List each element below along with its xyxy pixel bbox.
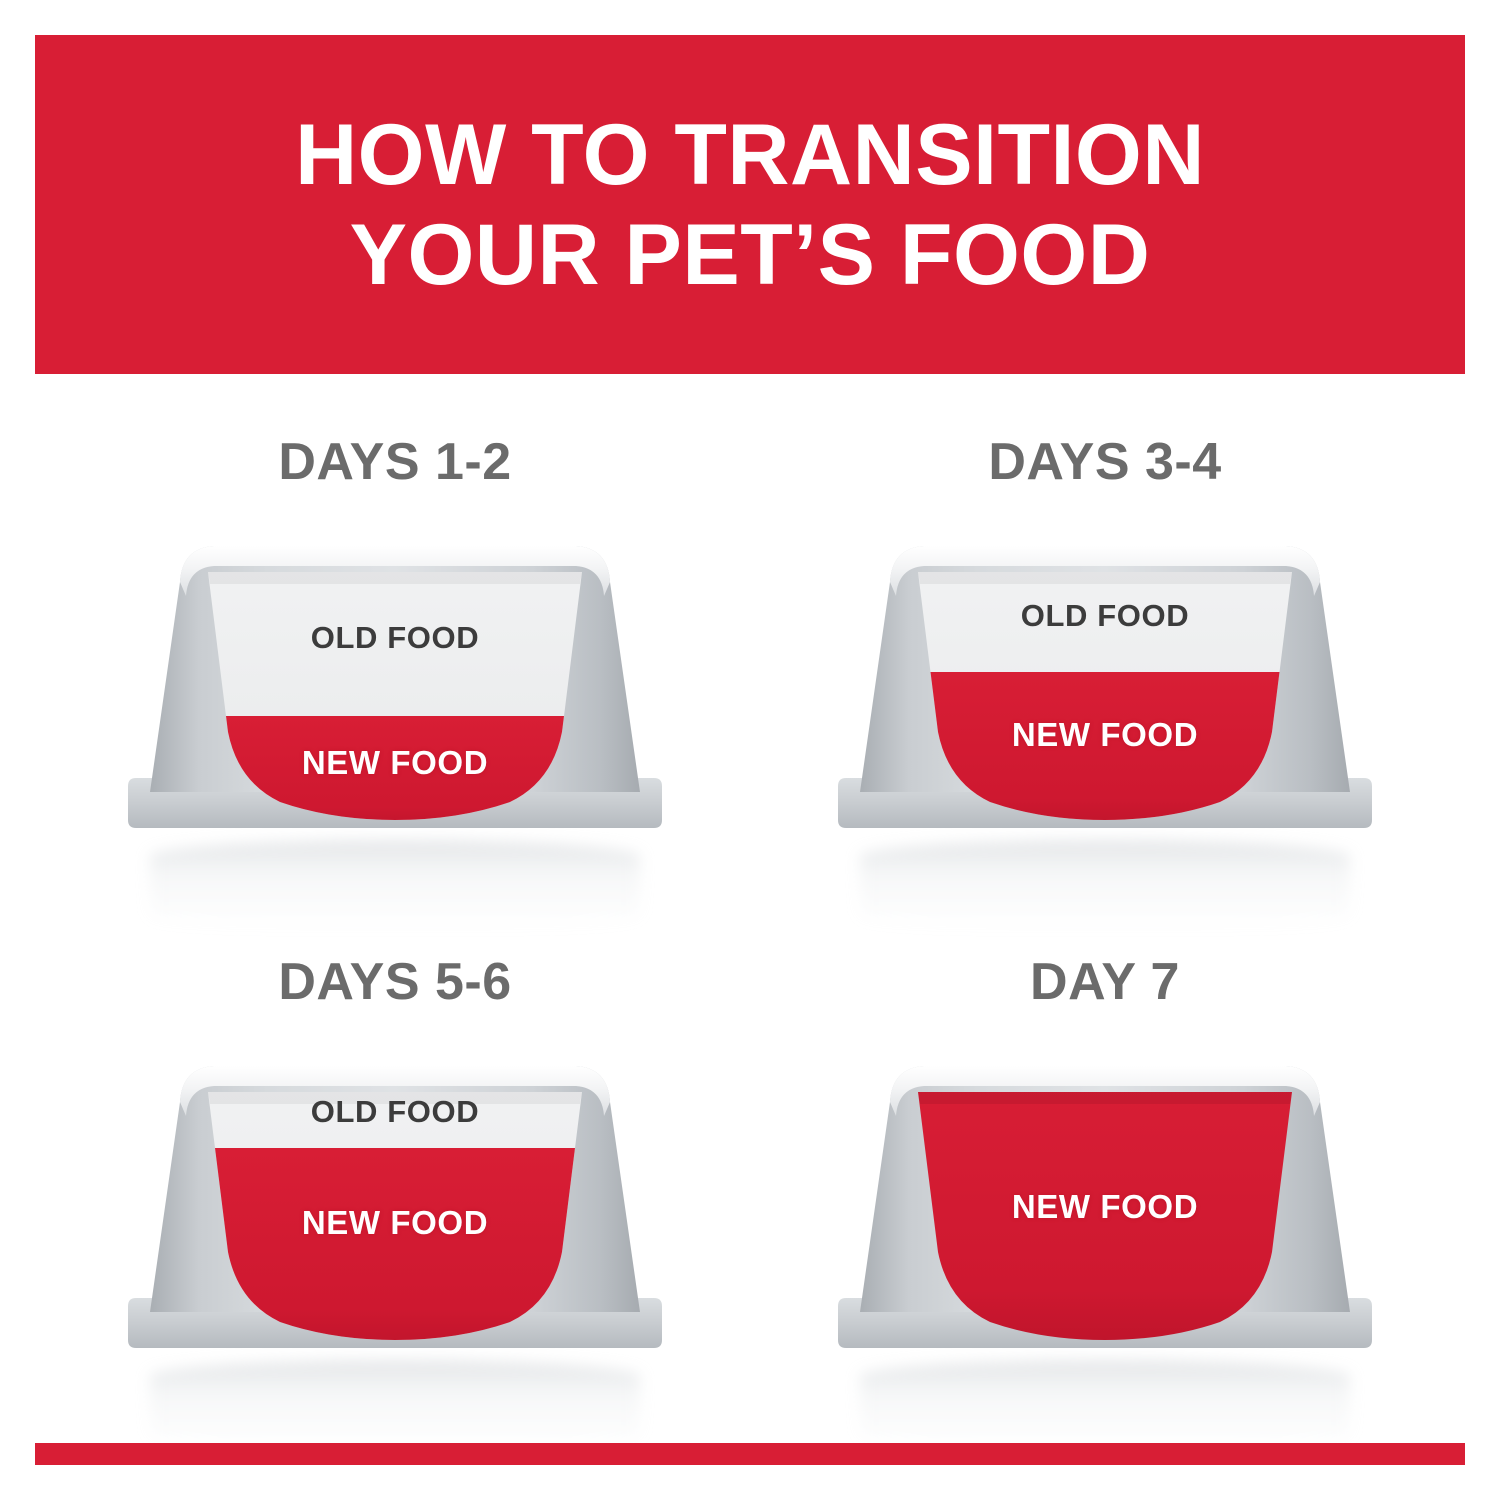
- header-banner: HOW TO TRANSITION YOUR PET’S FOOD: [35, 35, 1465, 374]
- page-title-line-1: HOW TO TRANSITION: [295, 112, 1205, 198]
- step-title-days-5-6: DAYS 5-6: [55, 952, 735, 1012]
- step-card-days-5-6: DAYS 5-6: [55, 930, 735, 1430]
- food-bowl-days-5-6: OLD FOOD NEW FOOD: [110, 1040, 680, 1380]
- page-title-line-2: YOUR PET’S FOOD: [350, 212, 1151, 298]
- footer-accent-bar: [35, 1443, 1465, 1465]
- new-food-label-days-3-4: NEW FOOD: [820, 716, 1390, 754]
- step-title-day-7: DAY 7: [765, 952, 1445, 1012]
- new-food-label-day-7: NEW FOOD: [820, 1188, 1390, 1226]
- food-bowl-days-1-2: OLD FOOD NEW FOOD: [110, 520, 680, 860]
- old-food-label-days-3-4: OLD FOOD: [820, 598, 1390, 634]
- old-food-label-days-1-2: OLD FOOD: [110, 620, 680, 656]
- new-food-label-days-1-2: NEW FOOD: [110, 744, 680, 782]
- step-title-days-1-2: DAYS 1-2: [55, 432, 735, 492]
- food-bowl-days-3-4: OLD FOOD NEW FOOD: [820, 520, 1390, 860]
- old-food-label-days-5-6: OLD FOOD: [110, 1094, 680, 1130]
- step-card-days-1-2: DAYS 1-2: [55, 410, 735, 910]
- bowl-illustration-icon: [820, 520, 1390, 860]
- bowl-illustration-icon: [110, 520, 680, 860]
- food-bowl-day-7: NEW FOOD: [820, 1040, 1390, 1380]
- step-card-day-7: DAY 7: [765, 930, 1445, 1430]
- new-food-label-days-5-6: NEW FOOD: [110, 1204, 680, 1242]
- step-title-days-3-4: DAYS 3-4: [765, 432, 1445, 492]
- transition-steps-grid: DAYS 1-2: [0, 400, 1500, 1420]
- step-card-days-3-4: DAYS 3-4: [765, 410, 1445, 910]
